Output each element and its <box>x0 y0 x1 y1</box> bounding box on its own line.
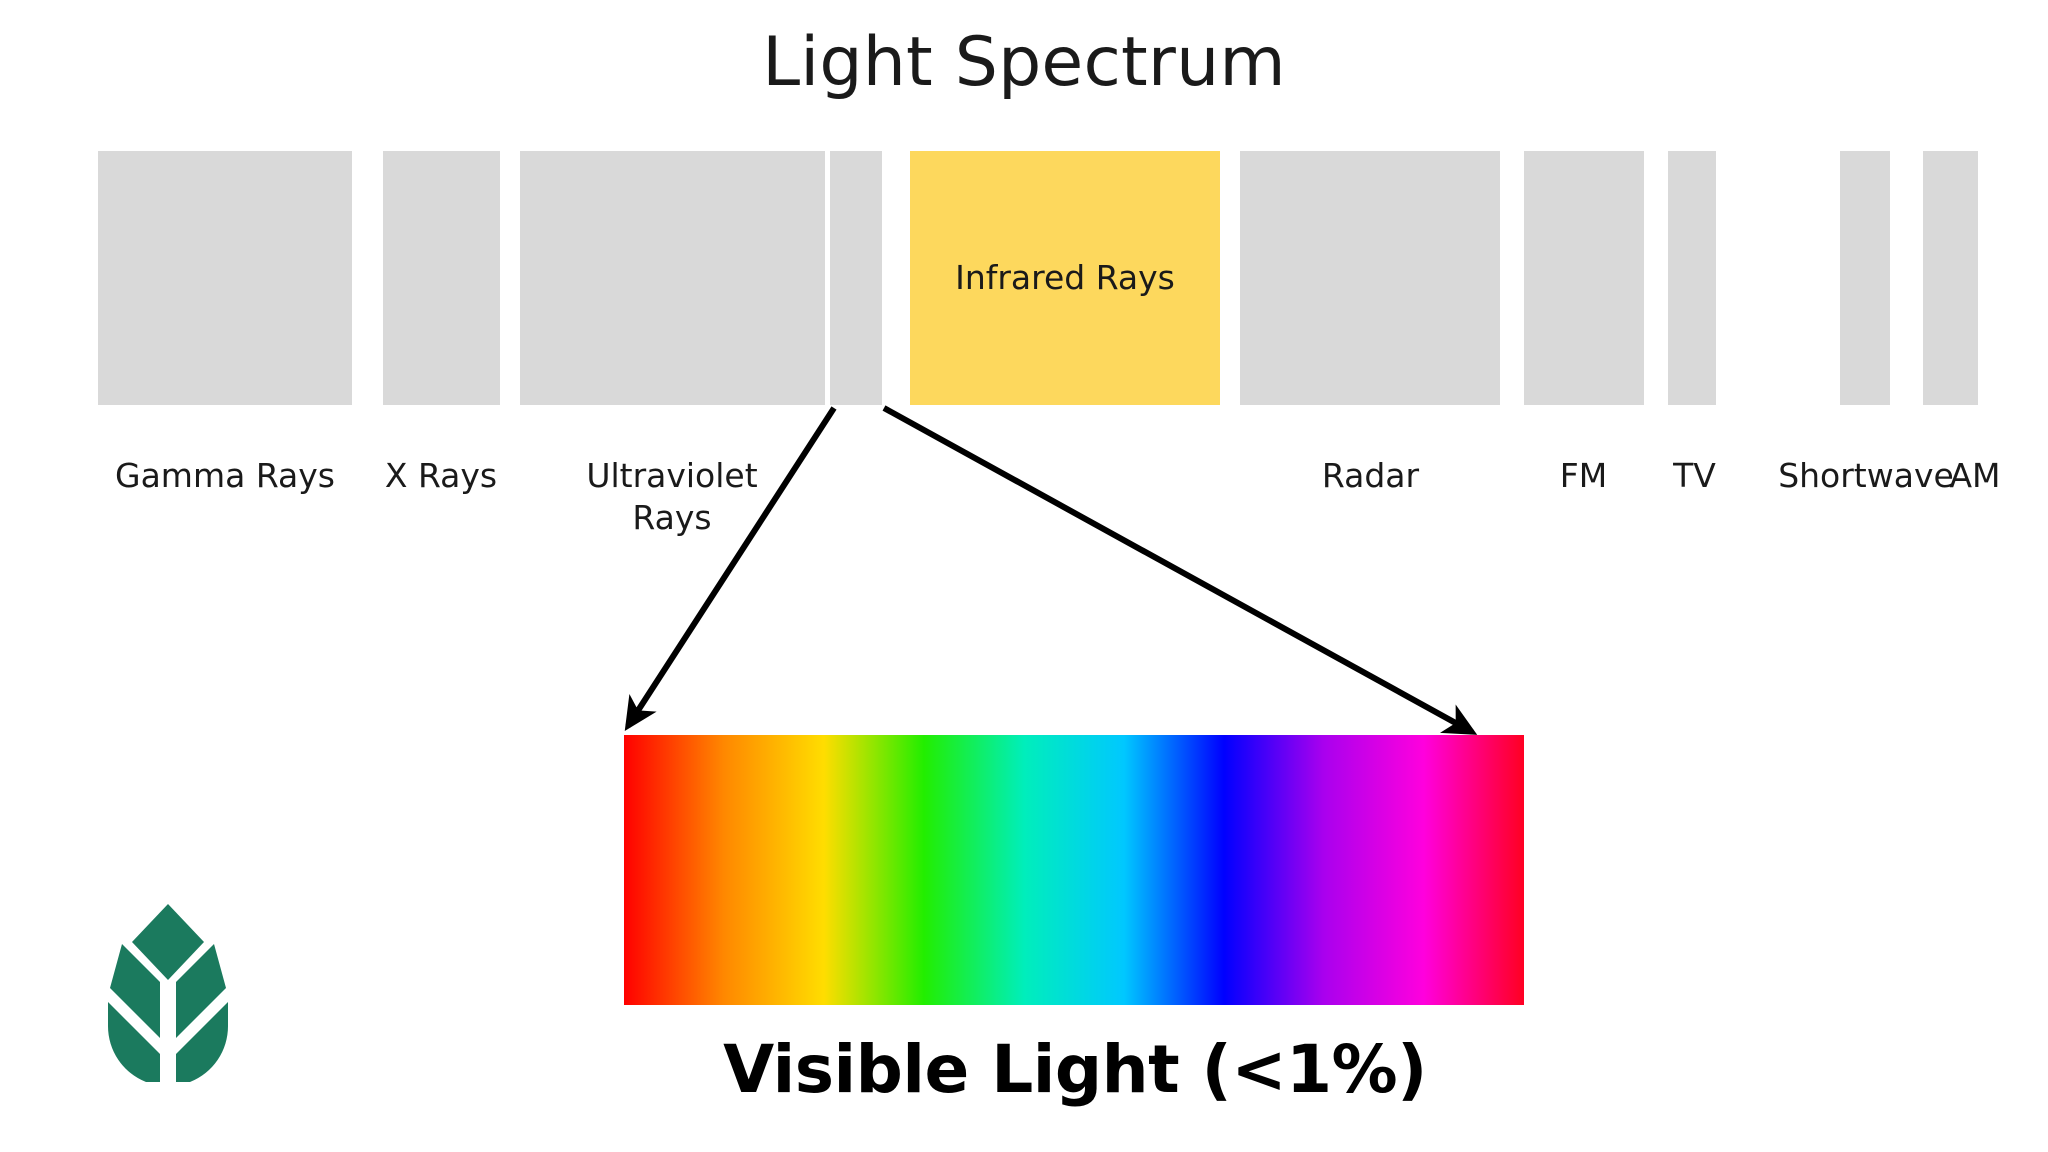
spectrum-label-ultraviolet-rays: Ultraviolet Rays <box>540 455 804 539</box>
spectrum-bar-x-rays[interactable] <box>383 151 500 405</box>
spectrum-bar-shortwave[interactable] <box>1840 151 1890 405</box>
slide-canvas: Light Spectrum Gamma RaysX RaysUltraviol… <box>0 0 2048 1152</box>
spectrum-bar-tv[interactable] <box>1668 151 1716 405</box>
spectrum-label-x-rays: X Rays <box>330 455 552 497</box>
spectrum-bar-fm[interactable] <box>1524 151 1644 405</box>
spectrum-bar-gamma-rays[interactable] <box>98 151 352 405</box>
spectrum-bar-ultraviolet-rays[interactable] <box>520 151 825 405</box>
spectrum-bar-radar[interactable] <box>1240 151 1500 405</box>
spectrum-bar-am[interactable] <box>1923 151 1978 405</box>
leaf-logo-shape <box>108 904 228 1082</box>
spectrum-label-radar: Radar <box>1248 455 1493 497</box>
spectrum-bar-infrared-rays[interactable]: Infrared Rays <box>910 151 1220 405</box>
spectrum-bar-inner-label-infrared-rays: Infrared Rays <box>955 255 1175 301</box>
spectrum-bar-visible-light[interactable] <box>830 151 882 405</box>
visible-light-spectrum-bar <box>624 735 1524 1005</box>
leaf-logo <box>88 898 248 1083</box>
spectrum-label-am: AM <box>1900 455 2048 497</box>
visible-light-caption: Visible Light (<1%) <box>500 1035 1650 1104</box>
